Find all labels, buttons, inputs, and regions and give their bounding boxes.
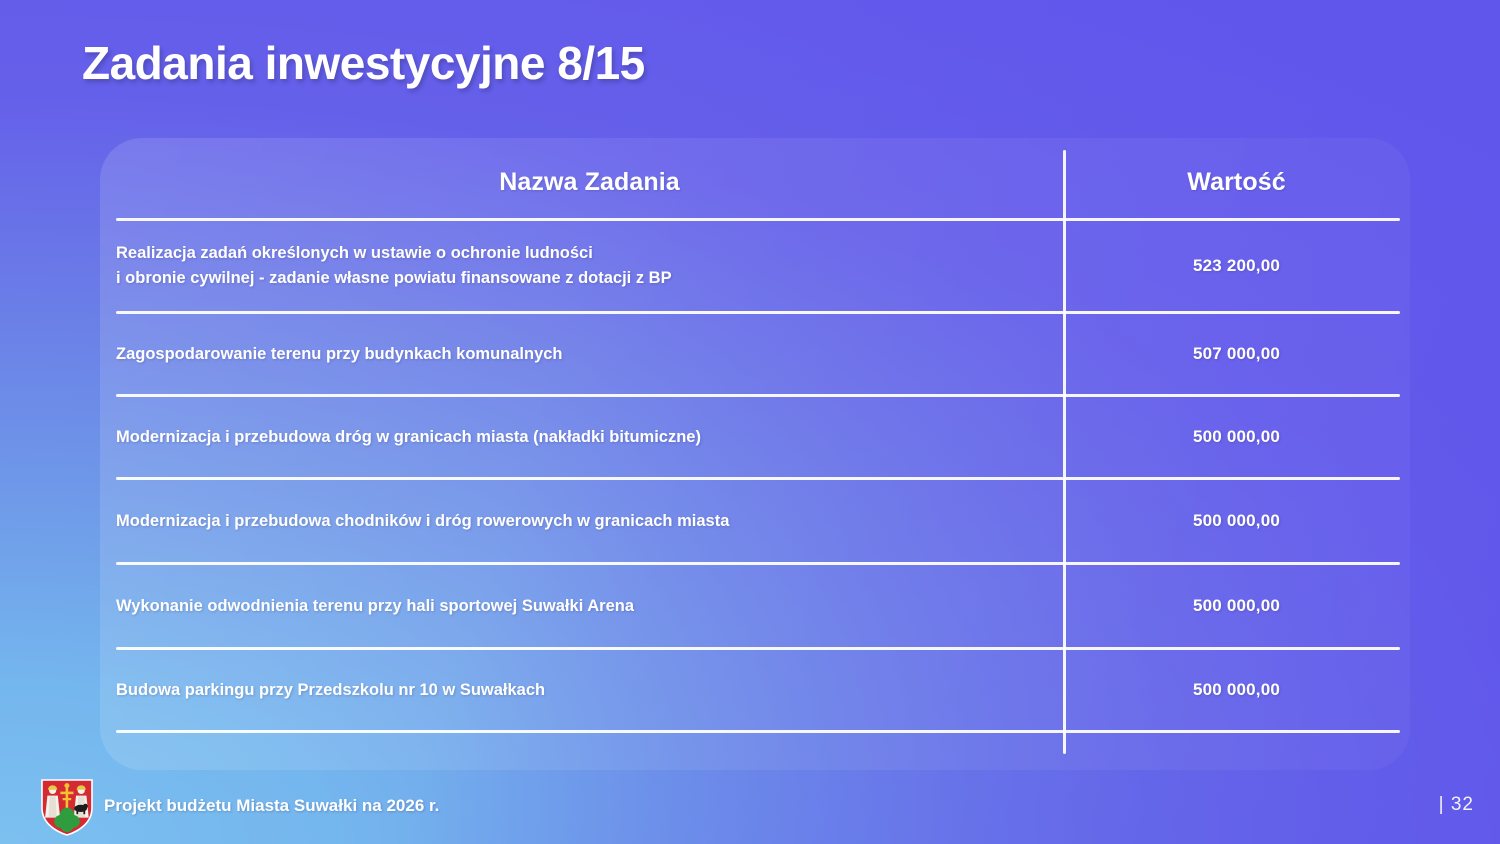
table-row: Budowa parkingu przy Przedszkolu nr 10 w… [116,650,1400,730]
table-row: Zagospodarowanie terenu przy budynkach k… [116,314,1400,394]
task-name-line-1: Modernizacja i przebudowa dróg w granica… [116,425,1039,450]
row-divider [116,730,1400,733]
task-value: 500 000,00 [1063,511,1400,531]
page-number: | 32 [1439,794,1474,816]
task-name: Modernizacja i przebudowa dróg w granica… [116,425,1063,450]
task-name-line-1: Zagospodarowanie terenu przy budynkach k… [116,342,1039,367]
task-name-line-1: Budowa parkingu przy Przedszkolu nr 10 w… [116,678,1039,703]
task-name-line-1: Wykonanie odwodnienia terenu przy hali s… [116,594,1039,619]
footer-label: Projekt budżetu Miasta Suwałki na 2026 r… [104,796,439,816]
table-header-row: Nazwa Zadania Wartość [116,146,1400,218]
slide-root: Zadania inwestycyjne 8/15 Nazwa Zadania … [0,0,1500,844]
task-name: Modernizacja i przebudowa chodników i dr… [116,509,1063,534]
task-name-line-2: i obronie cywilnej - zadanie własne powi… [116,266,1039,291]
column-header-name: Nazwa Zadania [116,168,1063,197]
task-name: Zagospodarowanie terenu przy budynkach k… [116,342,1063,367]
task-value: 523 200,00 [1063,256,1400,276]
task-value: 507 000,00 [1063,344,1400,364]
task-value: 500 000,00 [1063,427,1400,447]
slide-footer: Projekt budżetu Miasta Suwałki na 2026 r… [0,770,1500,844]
investment-tasks-table: Nazwa Zadania Wartość Realizacja zadań o… [116,146,1400,733]
table-row: Realizacja zadań określonych w ustawie o… [116,221,1400,311]
table-row: Wykonanie odwodnienia terenu przy hali s… [116,565,1400,647]
task-value: 500 000,00 [1063,680,1400,700]
table-row: Modernizacja i przebudowa chodników i dr… [116,480,1400,562]
suwalki-coat-of-arms-icon [40,778,94,836]
task-name-line-1: Modernizacja i przebudowa chodników i dr… [116,509,1039,534]
task-name-line-1: Realizacja zadań określonych w ustawie o… [116,241,1039,266]
task-name: Wykonanie odwodnienia terenu przy hali s… [116,594,1063,619]
column-header-value: Wartość [1063,168,1400,197]
table-row: Modernizacja i przebudowa dróg w granica… [116,397,1400,477]
task-name: Budowa parkingu przy Przedszkolu nr 10 w… [116,678,1063,703]
page-title: Zadania inwestycyjne 8/15 [82,36,645,90]
task-name: Realizacja zadań określonych w ustawie o… [116,241,1063,291]
task-value: 500 000,00 [1063,596,1400,616]
